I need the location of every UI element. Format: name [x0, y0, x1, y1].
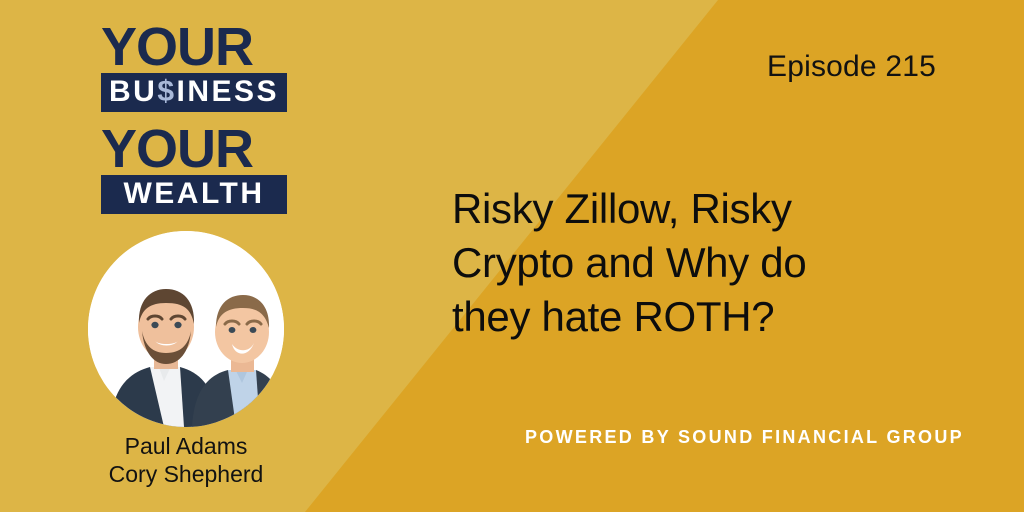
brand-logo: YOUR BU$INESS YOUR WEALTH: [101, 22, 287, 214]
logo-business-suffix: INESS: [177, 75, 280, 108]
logo-bar-wealth: WEALTH: [101, 175, 287, 214]
episode-title-line-2: Crypto and Why do: [452, 236, 922, 290]
logo-word-your-top: YOUR: [101, 22, 287, 73]
host-portrait-illustration: [88, 231, 284, 427]
episode-title-line-1: Risky Zillow, Risky: [452, 182, 922, 236]
host-photo-circle: [88, 231, 284, 427]
logo-bar-business: BU$INESS: [101, 73, 287, 112]
logo-business-prefix: BU: [109, 75, 157, 108]
episode-number: Episode 215: [767, 50, 936, 84]
episode-title: Risky Zillow, Risky Crypto and Why do th…: [452, 182, 922, 343]
host-name-2: Cory Shepherd: [0, 460, 372, 488]
episode-title-line-3: they hate ROTH?: [452, 290, 922, 344]
logo-word-your-bottom: YOUR: [101, 124, 287, 175]
powered-by-label: POWERED BY SOUND FINANCIAL GROUP: [525, 427, 964, 448]
host-name-1: Paul Adams: [0, 432, 372, 460]
dollar-sign-icon: $: [157, 75, 176, 108]
host-names: Paul Adams Cory Shepherd: [0, 432, 372, 488]
podcast-episode-cover: YOUR BU$INESS YOUR WEALTH: [0, 0, 1024, 512]
